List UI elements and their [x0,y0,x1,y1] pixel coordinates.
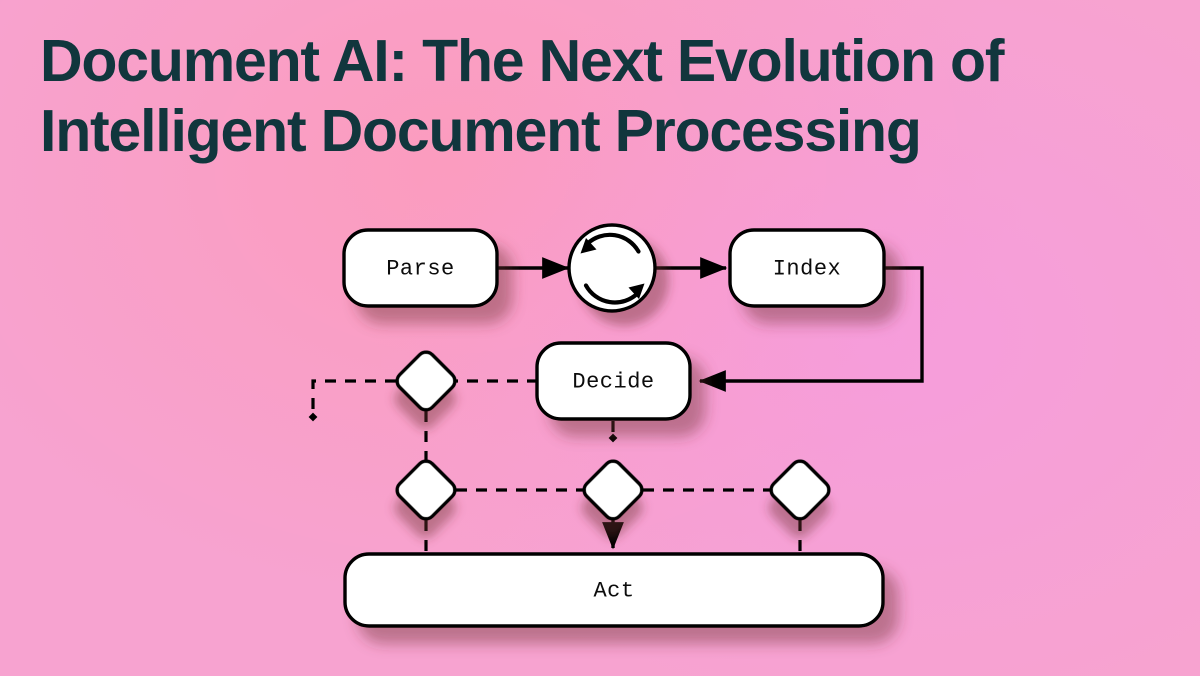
poster-canvas: Document AI: The Next Evolution of Intel… [0,0,1200,676]
node-loop-shape [569,225,655,311]
node-act-label: Act [593,579,634,604]
node-parse[interactable]: Parse [344,230,497,306]
node-gate-c-shape [580,457,645,522]
node-decide[interactable]: Decide [537,343,690,419]
node-gate-d-shape [767,457,832,522]
node-index-label: Index [773,257,842,282]
edge-gate-a-branch-terminator [313,381,396,417]
node-loop[interactable] [569,225,655,311]
node-act[interactable]: Act [345,554,883,626]
node-gate-b-shape [393,457,458,522]
workflow-diagram: Parse Index Decide [0,0,1200,676]
node-gate-b[interactable] [393,457,458,522]
node-gate-d[interactable] [767,457,832,522]
diagram-svg: Parse Index Decide [0,0,1200,676]
node-gate-a-shape [393,348,458,413]
node-decide-label: Decide [572,370,654,395]
node-index[interactable]: Index [730,230,884,306]
node-gate-c[interactable] [580,457,645,522]
node-gate-a[interactable] [393,348,458,413]
node-parse-label: Parse [386,257,455,282]
